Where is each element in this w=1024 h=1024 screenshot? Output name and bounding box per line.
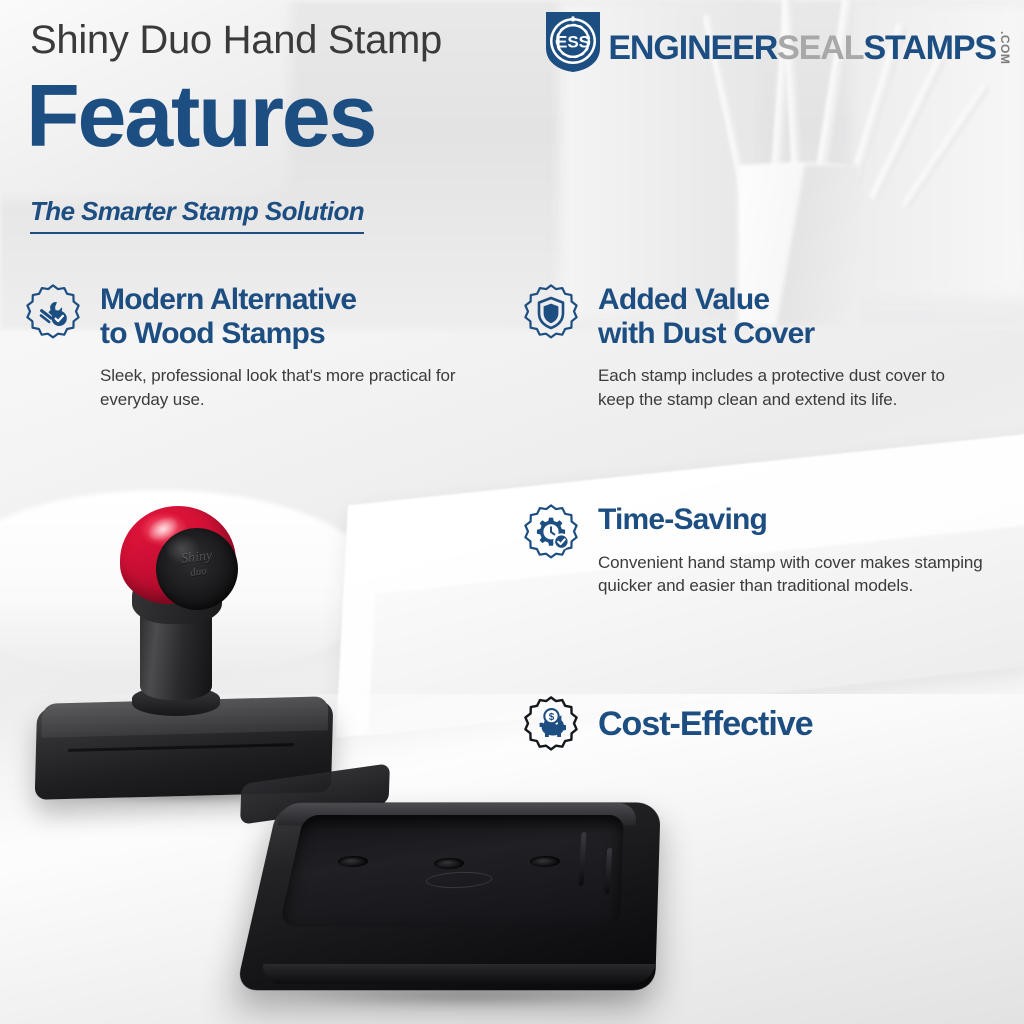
feature-item: $ Cost-Effective — [522, 695, 962, 753]
gear-clock-check-badge-icon — [522, 503, 580, 561]
header: Shiny Duo Hand Stamp Features The Smarte… — [0, 0, 1024, 250]
logo-word-stamps: STAMPS — [863, 31, 996, 65]
svg-text:ESS: ESS — [556, 33, 590, 52]
feature-heading: Time-Saving — [598, 503, 992, 537]
feature-body: Added Value with Dust Cover Each stamp i… — [598, 283, 982, 411]
infographic-canvas: Shiny Duo Hand Stamp Features The Smarte… — [0, 0, 1024, 1024]
feature-description: Convenient hand stamp with cover makes s… — [598, 551, 992, 598]
feature-heading: Cost-Effective — [598, 705, 813, 743]
feature-body: Cost-Effective — [598, 705, 813, 743]
feature-description: Each stamp includes a protective dust co… — [598, 364, 982, 411]
product-photo-dust-cover — [258, 786, 668, 1018]
feature-heading-line2: to Wood Stamps — [100, 317, 325, 350]
logo-word-tld: .COM — [998, 31, 1012, 64]
piggy-bank-coin-badge-icon: $ — [522, 695, 580, 753]
feature-item: Modern Alternative to Wood Stamps Sleek,… — [24, 283, 494, 411]
stamp-emboss-line1: Shiny — [180, 548, 213, 567]
shield-badge-icon — [522, 283, 580, 341]
product-title: Shiny Duo Hand Stamp — [30, 18, 442, 63]
feature-heading-line1: Added Value — [598, 283, 769, 316]
feature-item: Time-Saving Convenient hand stamp with c… — [522, 503, 992, 598]
logo-word-seal: SEAL — [777, 31, 863, 65]
brand-logo[interactable]: ESS ENGINEER SEAL STAMPS .COM — [542, 10, 1012, 74]
feature-heading-line1: Modern Alternative — [100, 283, 356, 316]
product-photo-hand-stamp: Shiny duo — [28, 500, 358, 800]
svg-text:$: $ — [549, 712, 555, 723]
feature-heading-line2: with Dust Cover — [598, 317, 814, 350]
logo-wordmark: ENGINEER SEAL STAMPS .COM — [608, 19, 1012, 65]
subtitle: The Smarter Stamp Solution — [30, 196, 364, 232]
feature-heading: Modern Alternative to Wood Stamps — [100, 283, 494, 350]
dust-cover-bottom-lip — [261, 964, 655, 984]
feature-description: Sleek, professional look that's more pra… — [100, 364, 494, 411]
feature-heading: Added Value with Dust Cover — [598, 283, 982, 350]
subtitle-underline — [30, 232, 364, 234]
page-title: Features — [26, 72, 375, 160]
wrench-check-badge-icon — [24, 283, 82, 341]
logo-word-engineer: ENGINEER — [608, 31, 777, 65]
ess-gear-badge-icon: ESS — [542, 10, 604, 74]
feature-body: Modern Alternative to Wood Stamps Sleek,… — [100, 283, 494, 411]
feature-item: Added Value with Dust Cover Each stamp i… — [522, 283, 982, 411]
dust-cover-inner-cavity — [279, 815, 624, 927]
feature-body: Time-Saving Convenient hand stamp with c… — [598, 503, 992, 598]
stamp-emboss-logo: Shiny duo — [172, 547, 224, 589]
subtitle-block: The Smarter Stamp Solution — [30, 196, 364, 234]
